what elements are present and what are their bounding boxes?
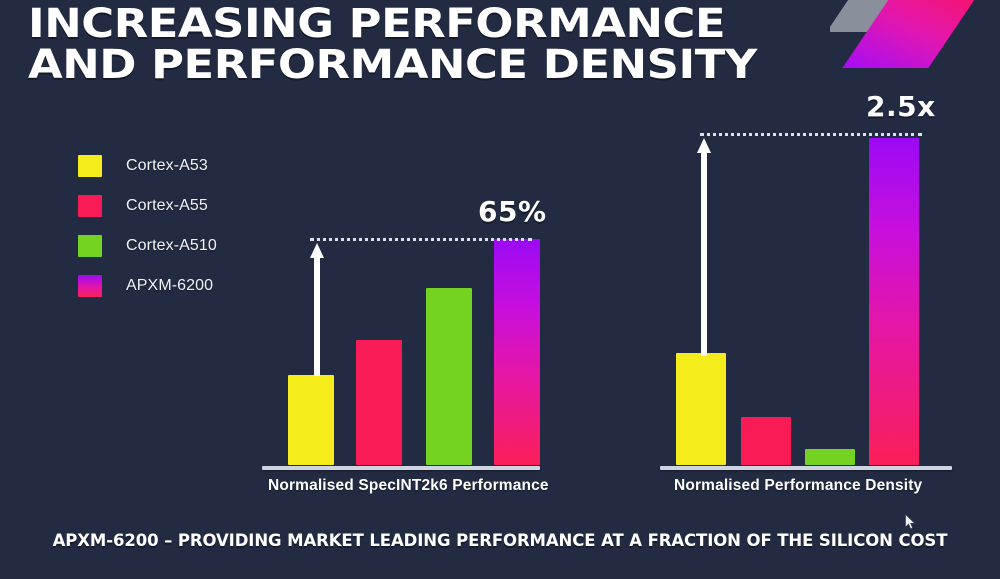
growth-arrow-specint — [310, 243, 324, 376]
group-baseline-axis — [262, 466, 540, 470]
slide-title-line-1: INCREASING PERFORMANCE — [28, 4, 902, 45]
arrow-head-icon — [697, 138, 711, 153]
arrow-stem — [701, 147, 707, 356]
callout-value-specint: 65% — [478, 195, 547, 228]
legend-label-apxm-6200: APXM-6200 — [126, 277, 213, 295]
group-bars — [660, 135, 952, 465]
group-label-density: Normalised Performance Density — [674, 477, 922, 495]
growth-arrow-density — [697, 138, 711, 356]
slide-canvas: INCREASING PERFORMANCE AND PERFORMANCE D… — [0, 0, 1000, 579]
group-label-specint: Normalised SpecINT2k6 Performance — [268, 477, 549, 495]
legend-swatch-cortex-a510 — [78, 235, 102, 257]
chart-group-specint — [262, 135, 540, 465]
arrow-stem — [314, 252, 320, 376]
legend-swatch-cortex-a55 — [78, 195, 102, 217]
legend-swatch-cortex-a53 — [78, 155, 102, 177]
bar-cortex-a55 — [741, 417, 791, 465]
bar-apxm-6200 — [494, 239, 540, 465]
legend-label-cortex-a53: Cortex-A53 — [126, 157, 208, 175]
legend-label-cortex-a55: Cortex-A55 — [126, 197, 208, 215]
bar-apxm-6200 — [869, 138, 919, 465]
slide-title: INCREASING PERFORMANCE AND PERFORMANCE D… — [28, 4, 902, 86]
arrow-head-icon — [310, 243, 324, 258]
bar-cortex-a53 — [676, 353, 726, 465]
callout-value-density: 2.5x — [866, 90, 936, 123]
chart-legend: Cortex-A53 Cortex-A55 Cortex-A510 APXM-6… — [78, 146, 217, 306]
callout-dashline-specint — [310, 238, 532, 241]
legend-item-cortex-a55: Cortex-A55 — [78, 186, 217, 226]
legend-item-cortex-a510: Cortex-A510 — [78, 226, 217, 266]
slide-title-line-2: AND PERFORMANCE DENSITY — [28, 45, 902, 86]
bar-cortex-a510 — [426, 288, 472, 465]
slide-footer-caption: APXM-6200 – PROVIDING MARKET LEADING PER… — [0, 531, 1000, 550]
legend-item-apxm-6200: APXM-6200 — [78, 266, 217, 306]
legend-swatch-apxm-6200 — [78, 275, 102, 297]
mouse-cursor-icon — [905, 514, 916, 530]
bar-cortex-a53 — [288, 375, 334, 465]
chart-group-density — [660, 135, 952, 465]
legend-item-cortex-a53: Cortex-A53 — [78, 146, 217, 186]
group-baseline-axis — [660, 466, 952, 470]
group-bars — [262, 135, 540, 465]
callout-dashline-density — [700, 133, 922, 136]
bar-cortex-a510 — [805, 449, 855, 465]
legend-label-cortex-a510: Cortex-A510 — [126, 237, 217, 255]
bar-cortex-a55 — [356, 340, 402, 465]
